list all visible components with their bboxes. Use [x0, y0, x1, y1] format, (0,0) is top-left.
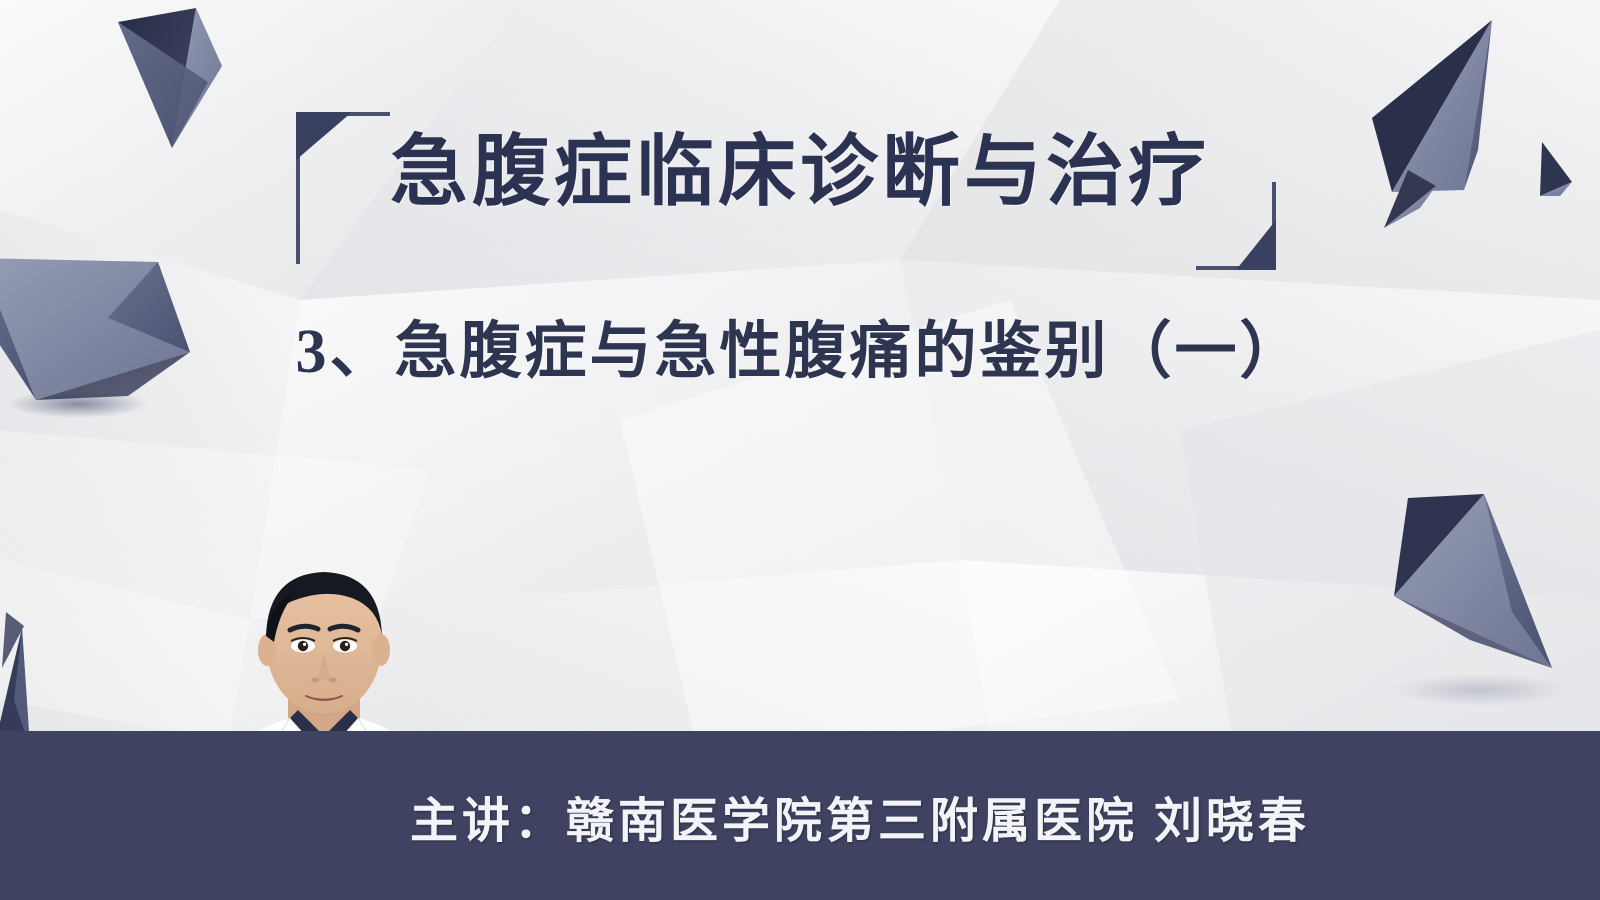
main-title: 急腹症临床诊断与治疗	[0, 130, 1600, 214]
bottom-bar	[0, 731, 1600, 900]
presentation-slide: 急腹症临床诊断与治疗 3、急腹症与急性腹痛的鉴别（一）	[0, 0, 1600, 900]
crystal-top-left	[118, 8, 222, 148]
crystal-right-lower	[1394, 494, 1552, 668]
title-block: 急腹症临床诊断与治疗	[0, 130, 1600, 214]
sub-title: 3、急腹症与急性腹痛的鉴别（一）	[0, 318, 1600, 386]
